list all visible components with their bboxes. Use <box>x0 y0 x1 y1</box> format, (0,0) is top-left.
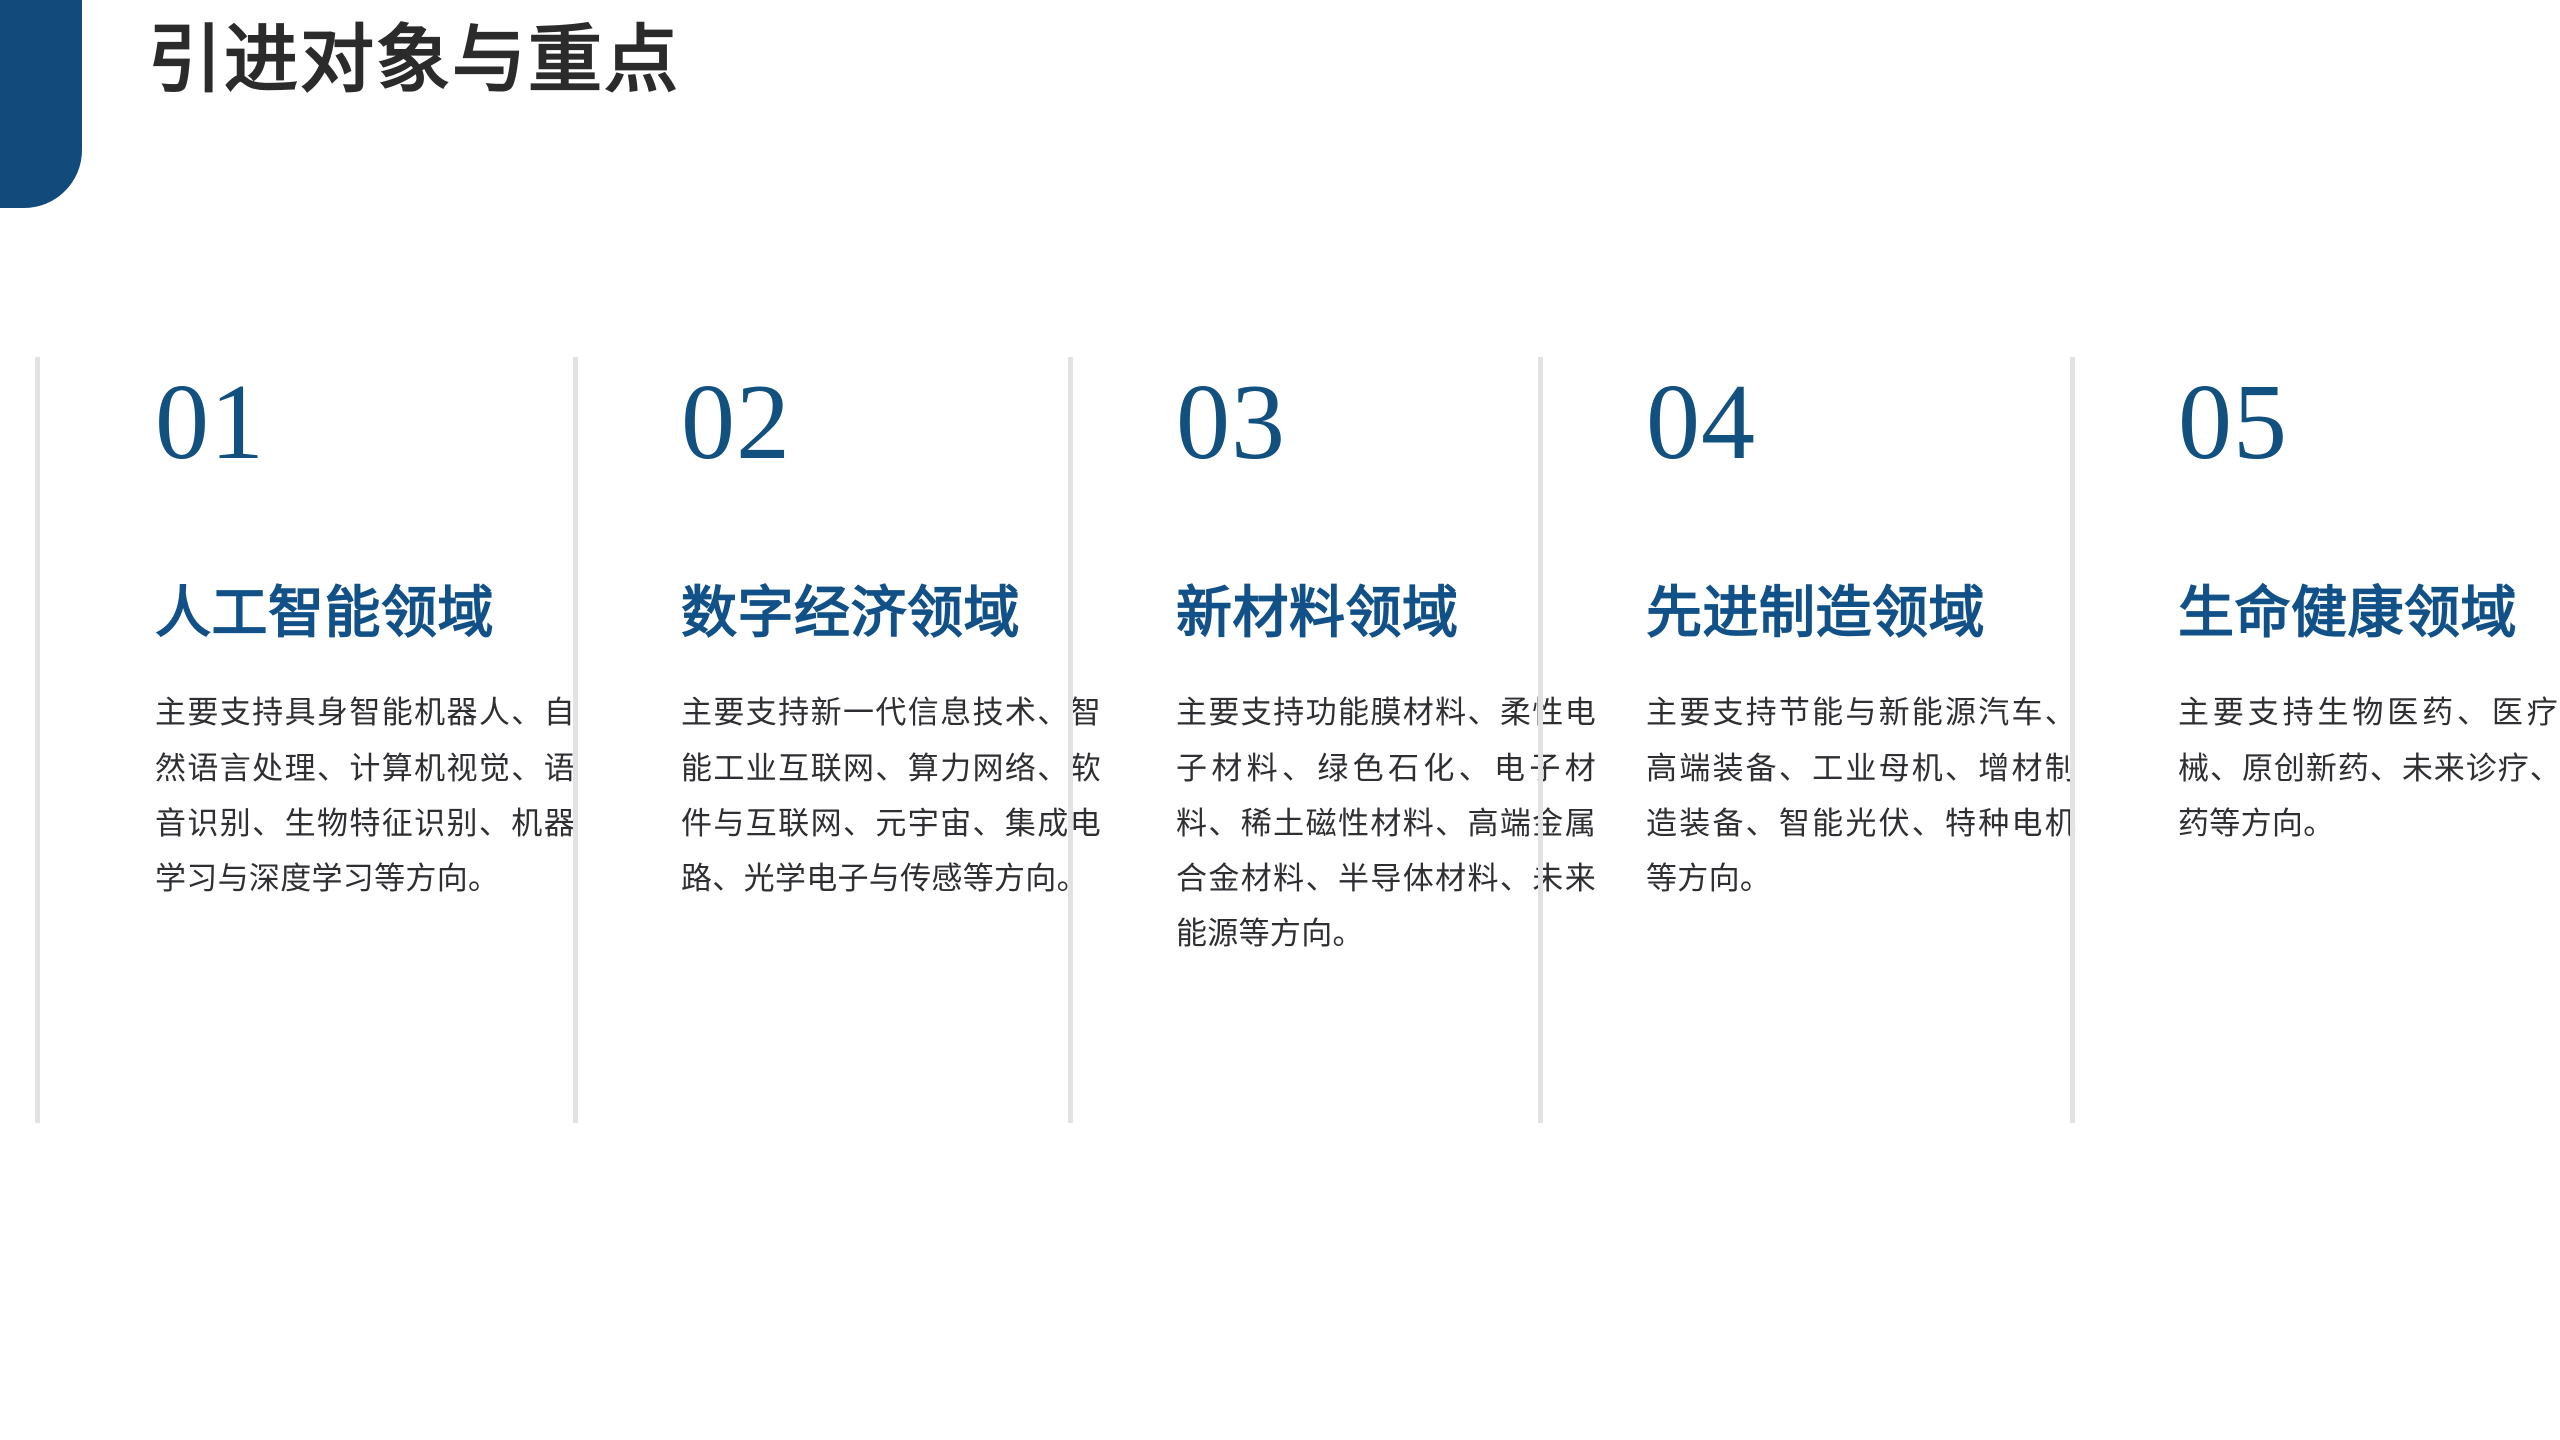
column-divider <box>1538 357 1543 1123</box>
column-divider <box>35 357 40 1123</box>
column-body: 02 数字经济领域 主要支持新一代信息技术、智能工业互联网、算力网络、软件与互联… <box>681 357 1101 906</box>
column-body: 01 人工智能领域 主要支持具身智能机器人、自然语言处理、计算机视觉、语音识别、… <box>155 357 575 906</box>
column-number: 05 <box>2178 369 2560 477</box>
column-number: 02 <box>681 369 1101 477</box>
column-divider <box>1068 357 1073 1123</box>
column-03: 03 新材料领域 主要支持功能膜材料、柔性电子材料、绿色石化、电子材料、稀土磁性… <box>1068 357 1540 1123</box>
column-heading: 新材料领域 <box>1176 581 1596 645</box>
column-description: 主要支持具身智能机器人、自然语言处理、计算机视觉、语音识别、生物特征识别、机器学… <box>155 685 575 906</box>
column-divider <box>2070 357 2075 1123</box>
column-divider <box>573 357 578 1123</box>
column-number: 04 <box>1646 369 2076 477</box>
column-description: 主要支持生物医药、医疗器械、原创新药、未来诊疗、中药等方向。 <box>2178 685 2560 851</box>
column-02: 02 数字经济领域 主要支持新一代信息技术、智能工业互联网、算力网络、软件与互联… <box>573 357 1070 1123</box>
column-heading: 先进制造领域 <box>1646 581 2076 645</box>
column-heading: 生命健康领域 <box>2178 581 2560 645</box>
content-columns: 01 人工智能领域 主要支持具身智能机器人、自然语言处理、计算机视觉、语音识别、… <box>0 357 2560 1123</box>
page-title: 引进对象与重点 <box>148 14 680 107</box>
title-accent-bar <box>0 0 82 208</box>
column-number: 01 <box>155 369 575 477</box>
column-heading: 数字经济领域 <box>681 581 1101 645</box>
column-description: 主要支持新一代信息技术、智能工业互联网、算力网络、软件与互联网、元宇宙、集成电路… <box>681 685 1101 906</box>
column-body: 04 先进制造领域 主要支持节能与新能源汽车、高端装备、工业母机、增材制造装备、… <box>1646 357 2076 906</box>
column-body: 05 生命健康领域 主要支持生物医药、医疗器械、原创新药、未来诊疗、中药等方向。 <box>2178 357 2560 851</box>
column-05: 05 生命健康领域 主要支持生物医药、医疗器械、原创新药、未来诊疗、中药等方向。 <box>2070 357 2540 1123</box>
column-body: 03 新材料领域 主要支持功能膜材料、柔性电子材料、绿色石化、电子材料、稀土磁性… <box>1176 357 1596 961</box>
column-heading: 人工智能领域 <box>155 581 575 645</box>
column-number: 03 <box>1176 369 1596 477</box>
column-01: 01 人工智能领域 主要支持具身智能机器人、自然语言处理、计算机视觉、语音识别、… <box>35 357 575 1123</box>
column-04: 04 先进制造领域 主要支持节能与新能源汽车、高端装备、工业母机、增材制造装备、… <box>1538 357 2072 1123</box>
column-description: 主要支持节能与新能源汽车、高端装备、工业母机、增材制造装备、智能光伏、特种电机等… <box>1646 685 2076 906</box>
column-description: 主要支持功能膜材料、柔性电子材料、绿色石化、电子材料、稀土磁性材料、高端金属合金… <box>1176 685 1596 961</box>
